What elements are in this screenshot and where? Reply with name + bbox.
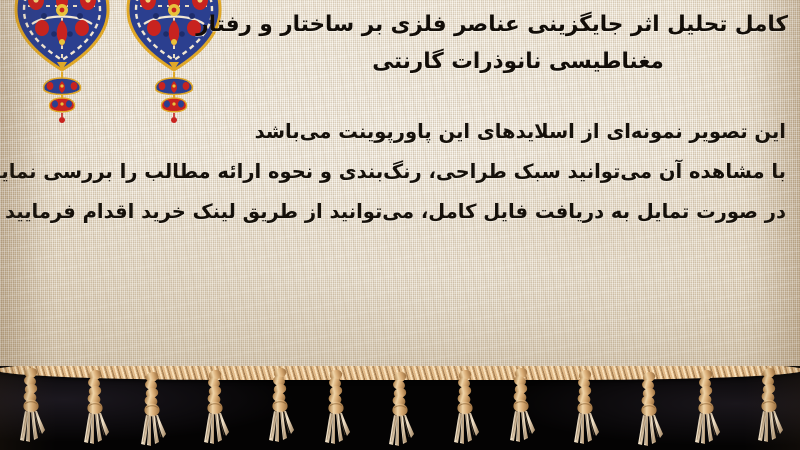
slide-title: کامل تحلیل اثر جایگزینی عناصر فلزی بر سا…: [248, 6, 788, 80]
body-line-3: در صورت تمایل به دریافت فایل کامل، می‌تو…: [14, 192, 786, 232]
carpet-fringe-tassel-icon: [634, 372, 664, 448]
presentation-slide: کامل تحلیل اثر جایگزینی عناصر فلزی بر سا…: [0, 0, 800, 450]
carpet-fringe-tassel-icon: [450, 370, 480, 446]
body-line-2: با مشاهده آن می‌توانید سبک طراحی، رنگ‌بن…: [14, 152, 786, 192]
carpet-fringe-tassel-icon: [265, 368, 295, 444]
carpet-fringe-tassel-icon: [691, 370, 721, 446]
carpet-fringe-tassel-icon: [80, 370, 110, 446]
carpet-fringe-tassel-icon: [570, 370, 600, 446]
body-line-1: این تصویر نمونه‌ای از اسلایدهای این پاور…: [14, 112, 786, 152]
carpet-fringe-tassel-icon: [200, 370, 230, 446]
carpet-fringe-tassel-icon: [506, 368, 536, 444]
persian-carpet-medallion-icon: [14, 0, 110, 62]
carpet-fringe-tassel-icon: [754, 368, 784, 444]
title-line-1: کامل تحلیل اثر جایگزینی عناصر فلزی بر سا…: [248, 6, 788, 43]
carpet-fringe-tassel-icon: [16, 368, 46, 444]
carpet-fringe-tassel-icon: [321, 370, 351, 446]
carpet-fringe-tassel-icon: [137, 372, 167, 448]
title-line-2: مغناطیسی نانوذرات گارنتی: [248, 43, 788, 80]
carpet-fringe-tassel-icon: [385, 372, 415, 448]
carpet-fringe-band: [0, 366, 800, 450]
slide-body-text: این تصویر نمونه‌ای از اسلایدهای این پاور…: [14, 112, 786, 232]
